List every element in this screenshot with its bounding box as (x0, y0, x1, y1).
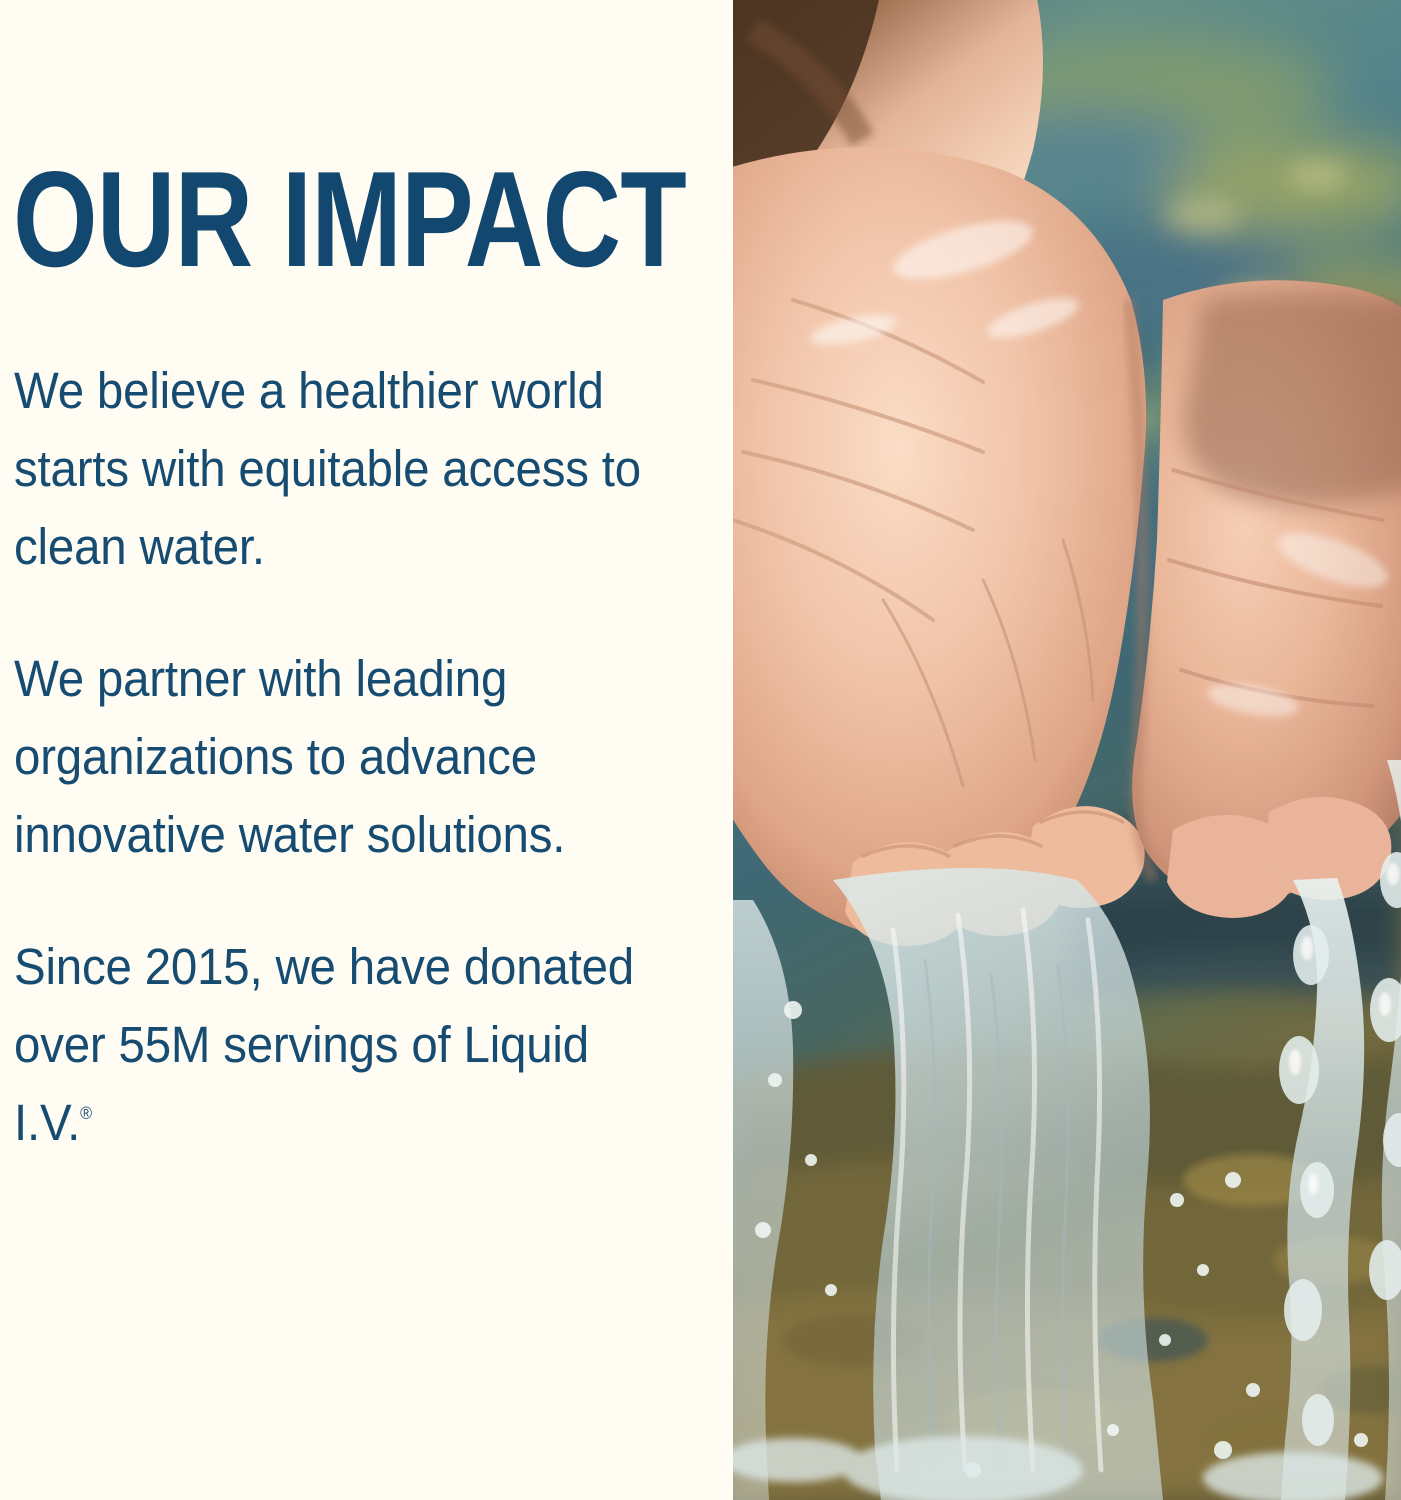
hands-with-water-photo (733, 0, 1401, 1500)
photo-panel (733, 0, 1401, 1500)
mission-paragraph-1: We believe a healthier world starts with… (14, 352, 646, 586)
body-copy: We believe a healthier world starts with… (14, 352, 694, 1162)
our-impact-panel: OUR IMPACT We believe a healthier world … (0, 0, 1401, 1500)
mission-paragraph-2: We partner with leading organizations to… (14, 640, 646, 874)
page-title: OUR IMPACT (13, 151, 686, 287)
donation-statement-text: Since 2015, we have donated over 55M ser… (14, 938, 634, 1151)
registered-trademark-icon: ® (80, 1103, 92, 1123)
text-panel: OUR IMPACT We believe a healthier world … (0, 0, 733, 1500)
mission-paragraph-3: Since 2015, we have donated over 55M ser… (14, 928, 646, 1162)
